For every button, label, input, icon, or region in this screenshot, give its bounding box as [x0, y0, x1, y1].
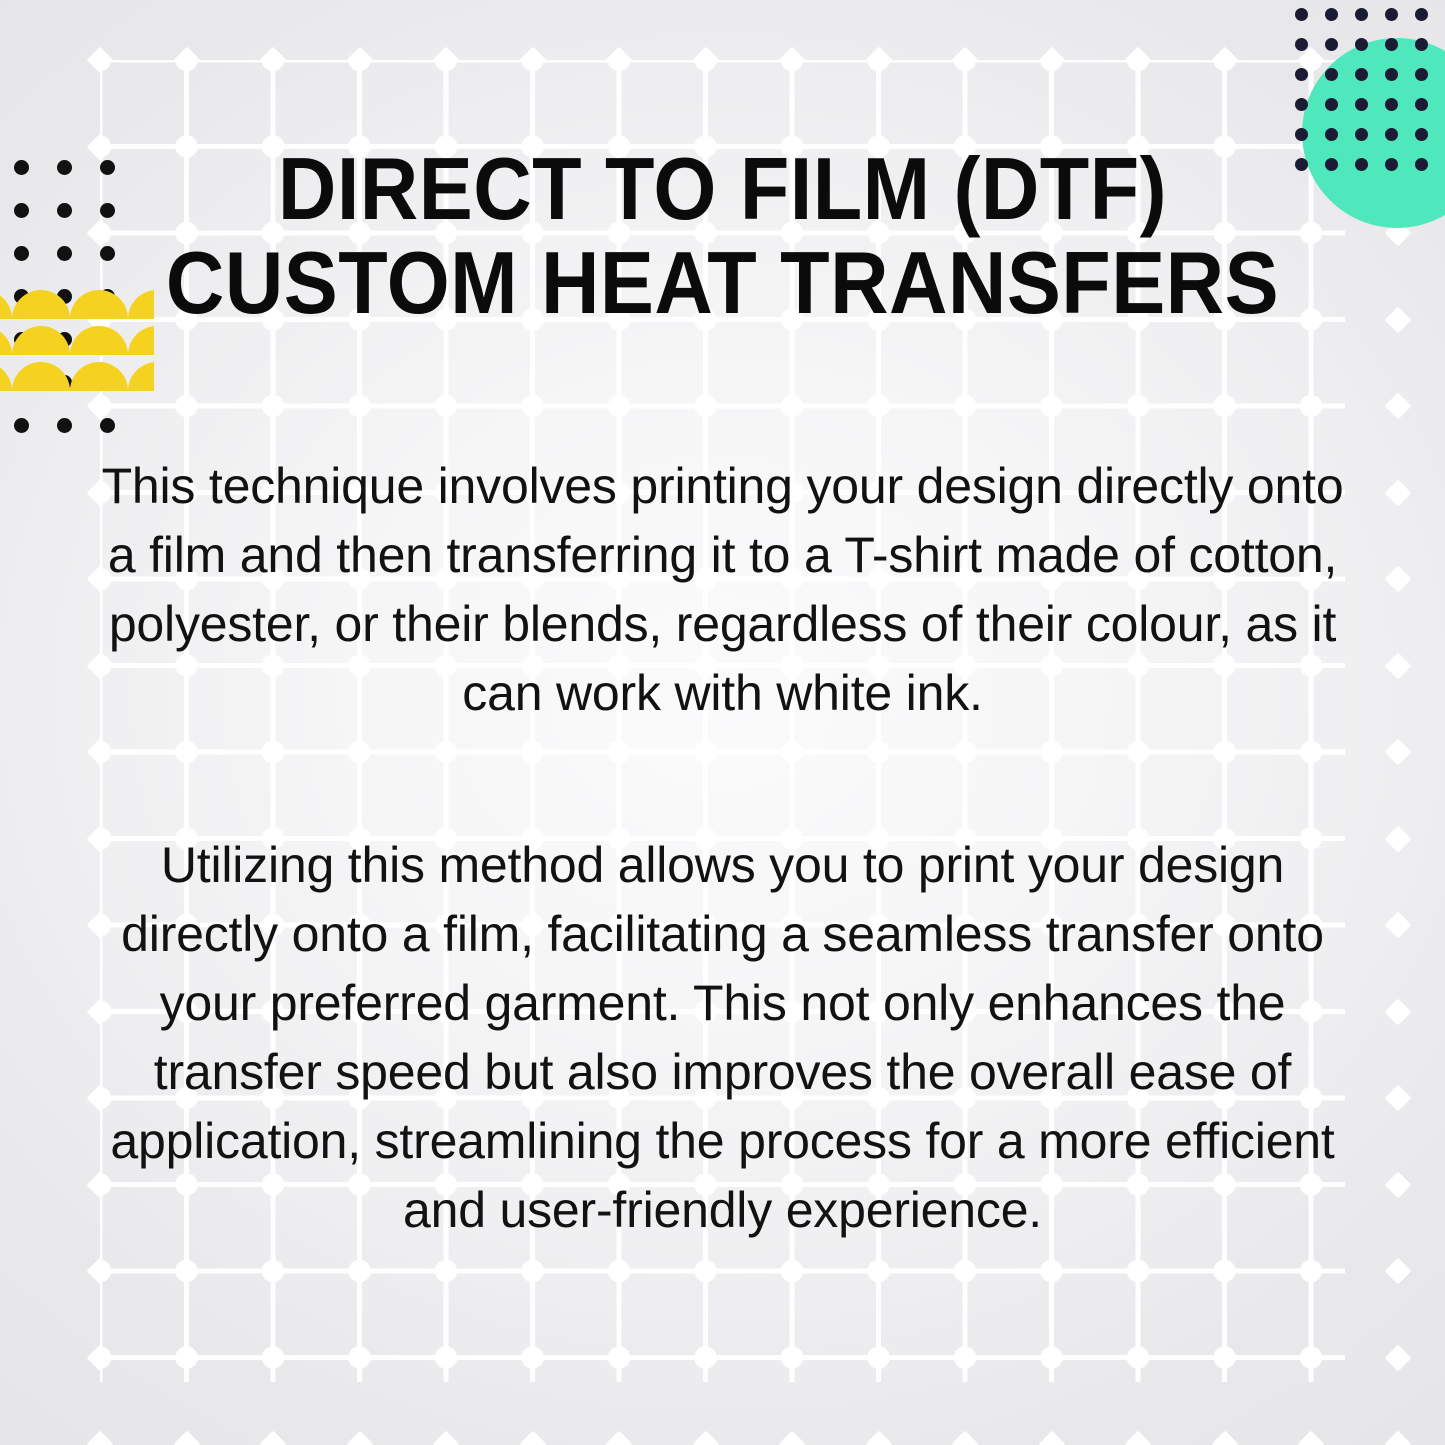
poster-content: DIRECT TO FILM (DTF) CUSTOM HEAT TRANSFE…: [0, 0, 1445, 1445]
page-title: DIRECT TO FILM (DTF) CUSTOM HEAT TRANSFE…: [58, 142, 1387, 330]
title-line-1: DIRECT TO FILM (DTF): [145, 142, 1300, 236]
paragraph-1: This technique involves printing your de…: [95, 452, 1350, 728]
body-text-block: This technique involves printing your de…: [95, 452, 1350, 1245]
paragraph-2: Utilizing this method allows you to prin…: [95, 831, 1350, 1245]
poster-canvas: DIRECT TO FILM (DTF) CUSTOM HEAT TRANSFE…: [0, 0, 1445, 1445]
title-line-2: CUSTOM HEAT TRANSFERS: [145, 236, 1300, 330]
